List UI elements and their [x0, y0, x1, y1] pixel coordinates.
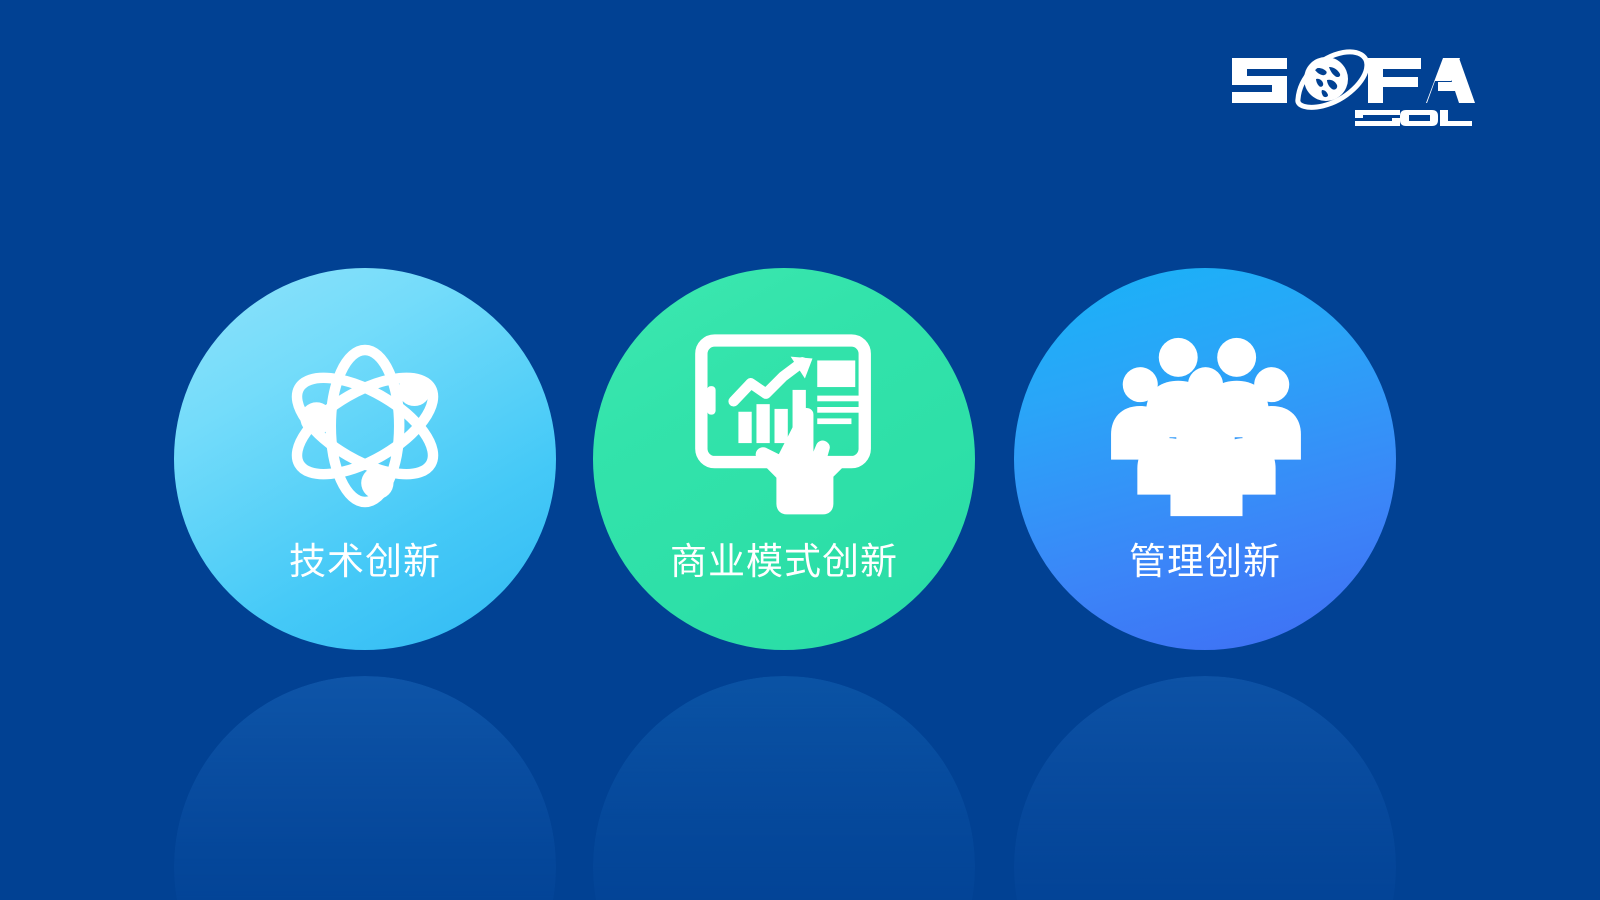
circle-disc-business	[593, 268, 975, 650]
card-label-technology-innovation: 技术创新	[174, 540, 556, 584]
card-technology-innovation[interactable]: 技术创新	[174, 268, 556, 650]
circle-disc-management	[1014, 268, 1396, 650]
card-label-business-model-innovation: 商业模式创新	[593, 540, 975, 584]
globe-orbit-icon	[1293, 50, 1371, 109]
innovation-circle-row: 技术创新	[0, 268, 1600, 650]
tablet-chart-touch-icon	[684, 326, 884, 526]
card-business-model-innovation[interactable]: 商业模式创新	[593, 268, 975, 650]
brand-logo	[1230, 48, 1475, 126]
reflection-management-innovation	[1014, 676, 1396, 900]
circle-disc-technology	[174, 268, 556, 650]
card-management-innovation[interactable]: 管理创新	[1014, 268, 1396, 650]
reflection-business-model-innovation	[593, 676, 975, 900]
slide-canvas: 技术创新	[0, 0, 1600, 900]
card-label-management-innovation: 管理创新	[1014, 540, 1396, 584]
circle-reflections	[0, 676, 1600, 900]
atom-icon	[265, 326, 465, 526]
reflection-technology-innovation	[174, 676, 556, 900]
people-group-icon	[1105, 326, 1305, 526]
